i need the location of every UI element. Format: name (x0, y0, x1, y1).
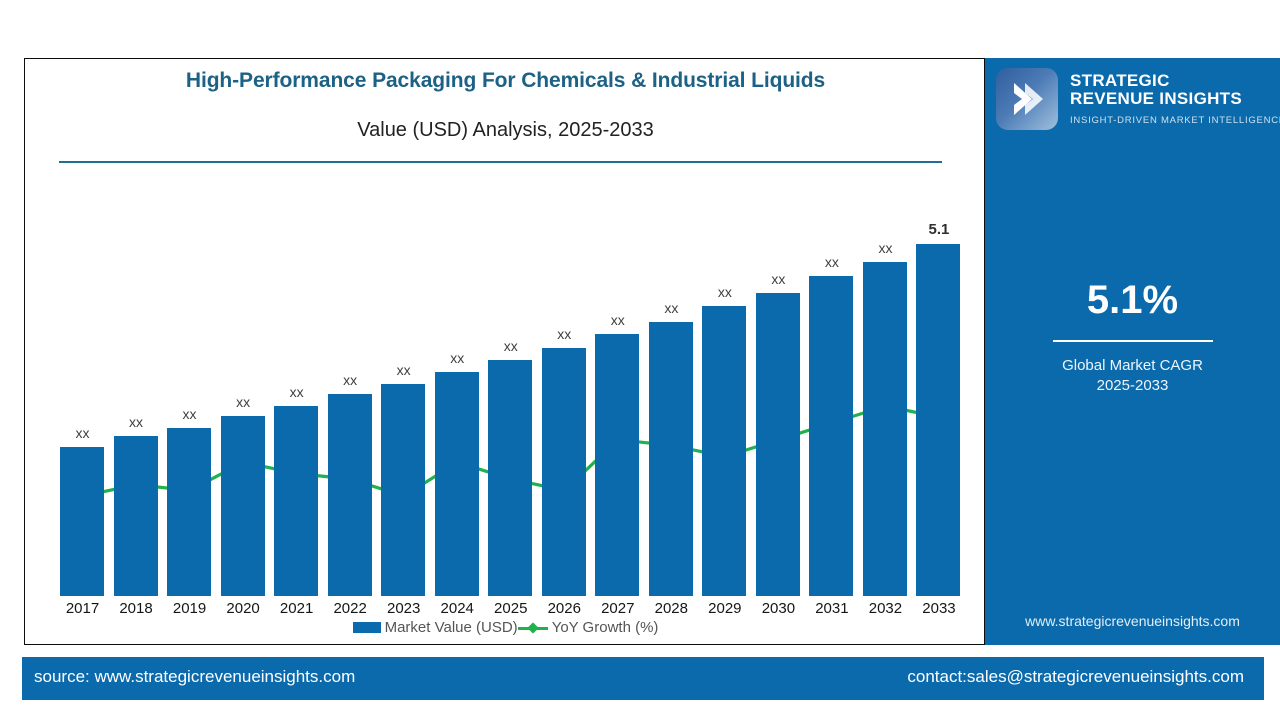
legend-bar-swatch-icon (353, 622, 381, 633)
logo-tagline: INSIGHT-DRIVEN MARKET INTELLIGENCE (1070, 115, 1280, 126)
bar-2018[interactable] (114, 436, 158, 596)
bar-value-label-2031: xx (805, 254, 858, 270)
bar-value-label-2022: xx (324, 372, 377, 388)
x-tick-2017: 2017 (56, 600, 109, 617)
bar-2017[interactable] (60, 447, 104, 597)
plot-area: xxxxxxxxxxxxxxxxxxxxxxxxxxxxxxxx5.1 (56, 211, 966, 596)
x-tick-2030: 2030 (752, 600, 805, 617)
bar-2020[interactable] (221, 416, 265, 596)
bar-2029[interactable] (702, 306, 746, 596)
bar-column[interactable]: xx (752, 211, 805, 596)
title-divider (59, 161, 942, 163)
logo-tile (996, 68, 1058, 130)
bar-value-label-2024: xx (431, 350, 484, 366)
legend-item-market-value: Market Value (USD) (353, 619, 518, 636)
chevron-right-logo-icon (1012, 81, 1044, 117)
legend-label-yoy-growth: YoY Growth (%) (552, 619, 659, 636)
bar-2030[interactable] (756, 293, 800, 596)
bar-value-label-2023: xx (377, 362, 430, 378)
logo-line-1: STRATEGIC (1070, 72, 1280, 90)
bar-value-label-2029: xx (698, 284, 751, 300)
chart-subtitle: Value (USD) Analysis, 2025-2033 (25, 119, 985, 142)
cagr-caption-line-1: Global Market CAGR (985, 356, 1280, 376)
logo-line-2: REVENUE INSIGHTS (1070, 90, 1280, 108)
bar-column[interactable]: xx (645, 211, 698, 596)
bar-value-label-2028: xx (645, 300, 698, 316)
legend-item-yoy-growth: YoY Growth (%) (518, 619, 659, 636)
bar-column[interactable]: xx (163, 211, 216, 596)
x-tick-2021: 2021 (270, 600, 323, 617)
x-tick-2020: 2020 (217, 600, 270, 617)
bar-column[interactable]: xx (538, 211, 591, 596)
bar-value-label-2027: xx (591, 312, 644, 328)
cagr-divider (1053, 340, 1213, 342)
cagr-value: 5.1% (985, 280, 1280, 320)
footer-contact-text[interactable]: contact:sales@strategicrevenueinsights.c… (907, 667, 1244, 687)
bar-2027[interactable] (595, 334, 639, 596)
bar-2032[interactable] (863, 262, 907, 596)
bar-column[interactable]: xx (110, 211, 163, 596)
bar-2022[interactable] (328, 394, 372, 596)
bar-column[interactable]: xx (217, 211, 270, 596)
x-tick-2018: 2018 (110, 600, 163, 617)
bar-column[interactable]: xx (805, 211, 858, 596)
x-tick-2024: 2024 (431, 600, 484, 617)
chart-title: High-Performance Packaging For Chemicals… (25, 69, 985, 93)
bar-column[interactable]: xx (859, 211, 912, 596)
bar-value-label-2032: xx (859, 240, 912, 256)
x-tick-2031: 2031 (805, 600, 858, 617)
bar-column[interactable]: xx (377, 211, 430, 596)
x-tick-2028: 2028 (645, 600, 698, 617)
bar-value-label-2021: xx (270, 384, 323, 400)
footer-source-text[interactable]: source: www.strategicrevenueinsights.com (34, 667, 355, 687)
bar-2023[interactable] (381, 384, 425, 596)
x-tick-2019: 2019 (163, 600, 216, 617)
bar-value-label-2017: xx (56, 425, 109, 441)
bar-value-label-2019: xx (163, 406, 216, 422)
bar-2024[interactable] (435, 372, 479, 596)
bar-value-label-2030: xx (752, 271, 805, 287)
sidebar-website-url[interactable]: www.strategicrevenueinsights.com (985, 613, 1280, 629)
logo-wordmark: STRATEGIC REVENUE INSIGHTS INSIGHT-DRIVE… (1070, 72, 1280, 127)
bar-column[interactable]: xx (270, 211, 323, 596)
x-tick-2023: 2023 (377, 600, 430, 617)
x-tick-2032: 2032 (859, 600, 912, 617)
chart-legend: Market Value (USD) YoY Growth (%) (25, 619, 985, 636)
bar-2028[interactable] (649, 322, 693, 596)
x-tick-2033: 2033 (912, 600, 965, 617)
x-tick-2025: 2025 (484, 600, 537, 617)
brand-sidebar: STRATEGIC REVENUE INSIGHTS INSIGHT-DRIVE… (985, 58, 1280, 645)
footer-bar: source: www.strategicrevenueinsights.com… (22, 657, 1264, 700)
bar-column[interactable]: xx (698, 211, 751, 596)
bar-column[interactable]: xx (324, 211, 377, 596)
bar-2019[interactable] (167, 428, 211, 596)
bar-column[interactable]: 5.1 (912, 211, 965, 596)
bar-value-label-2018: xx (110, 414, 163, 430)
x-tick-2026: 2026 (538, 600, 591, 617)
bar-column[interactable]: xx (591, 211, 644, 596)
x-tick-2022: 2022 (324, 600, 377, 617)
bar-value-label-2025: xx (484, 338, 537, 354)
bar-2021[interactable] (274, 406, 318, 596)
cagr-caption-line-2: 2025-2033 (985, 376, 1280, 396)
bar-2026[interactable] (542, 348, 586, 596)
cagr-highlight: 5.1% Global Market CAGR 2025-2033 (985, 280, 1280, 397)
bar-2025[interactable] (488, 360, 532, 596)
bar-value-label-2026: xx (538, 326, 591, 342)
bar-column[interactable]: xx (484, 211, 537, 596)
bar-value-label-2033: 5.1 (912, 221, 965, 238)
legend-label-market-value: Market Value (USD) (385, 619, 518, 636)
x-tick-2027: 2027 (591, 600, 644, 617)
x-tick-2029: 2029 (698, 600, 751, 617)
bar-2031[interactable] (809, 276, 853, 596)
brand-logo: STRATEGIC REVENUE INSIGHTS INSIGHT-DRIVE… (996, 68, 1280, 130)
bar-value-label-2020: xx (217, 394, 270, 410)
chart-card: High-Performance Packaging For Chemicals… (24, 58, 985, 645)
bar-2033[interactable] (916, 244, 960, 596)
bar-column[interactable]: xx (56, 211, 109, 596)
legend-line-swatch-icon (518, 622, 548, 634)
bar-column[interactable]: xx (431, 211, 484, 596)
